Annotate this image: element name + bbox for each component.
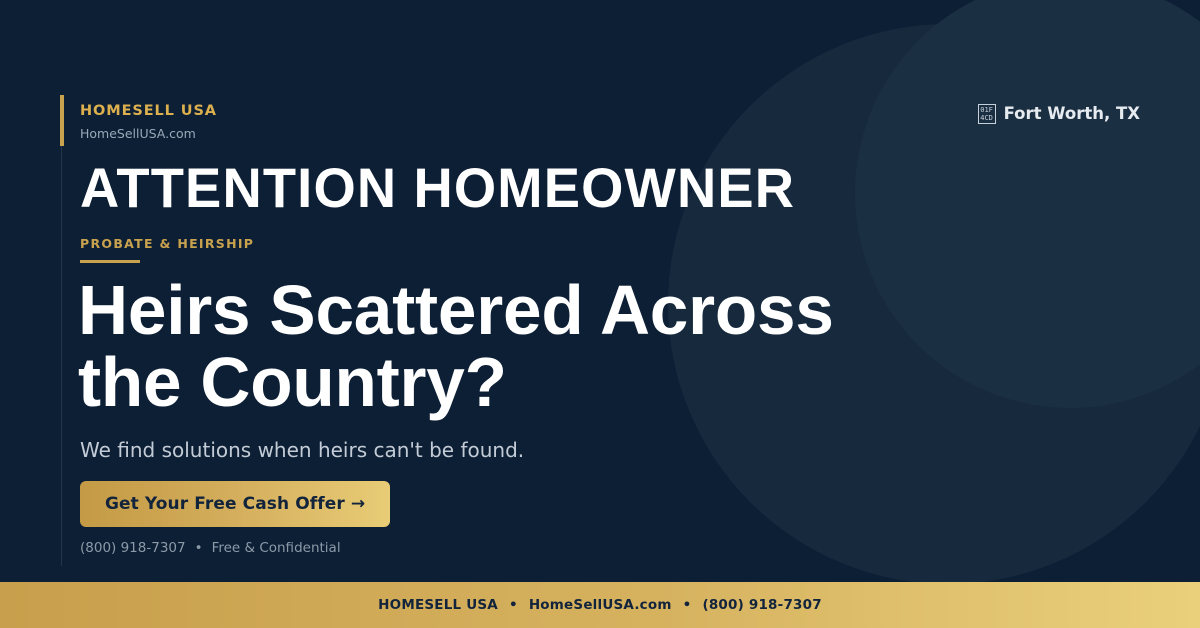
- location-tag: 01F 4CD Fort Worth, TX: [978, 104, 1140, 124]
- banner-content: HOMESELL USA HomeSellUSA.com 01F 4CD For…: [0, 0, 1200, 582]
- brand-name: HOMESELL USA: [80, 104, 217, 119]
- promo-banner: HOMESELL USA HomeSellUSA.com 01F 4CD For…: [0, 0, 1200, 628]
- attention-headline: ATTENTION HOMEOWNER: [80, 159, 795, 217]
- category-eyebrow: PROBATE & HEIRSHIP: [80, 238, 254, 251]
- footer-website[interactable]: HomeSellUSA.com: [529, 597, 672, 613]
- trust-note: Free & Confidential: [212, 542, 341, 556]
- hero-subtitle: We find solutions when heirs can't be fo…: [80, 436, 524, 464]
- location-label: Fort Worth, TX: [1004, 106, 1140, 123]
- footer-separator-1: •: [509, 597, 518, 613]
- footer-content: HOMESELL USA • HomeSellUSA.com • (800) 9…: [378, 597, 822, 613]
- footer-separator-2: •: [683, 597, 692, 613]
- eyebrow-underline: [80, 260, 140, 263]
- cta-button[interactable]: Get Your Free Cash Offer →: [80, 481, 390, 527]
- main-headline: Heirs Scattered Across the Country?: [78, 274, 929, 418]
- trust-phone[interactable]: (800) 918-7307: [80, 542, 186, 556]
- map-pin-icon: 01F 4CD: [978, 104, 996, 124]
- trust-line: (800) 918-7307 • Free & Confidential: [80, 542, 341, 556]
- brand-block: HOMESELL USA HomeSellUSA.com: [80, 104, 217, 140]
- brand-website: HomeSellUSA.com: [80, 128, 217, 141]
- footer-bar: HOMESELL USA • HomeSellUSA.com • (800) 9…: [0, 582, 1200, 628]
- pin-icon-codepoint-top: 01F: [979, 106, 995, 114]
- footer-phone[interactable]: (800) 918-7307: [702, 597, 821, 613]
- trust-separator: •: [195, 542, 203, 556]
- footer-brand: HOMESELL USA: [378, 597, 498, 613]
- pin-icon-codepoint-bottom: 4CD: [979, 114, 995, 122]
